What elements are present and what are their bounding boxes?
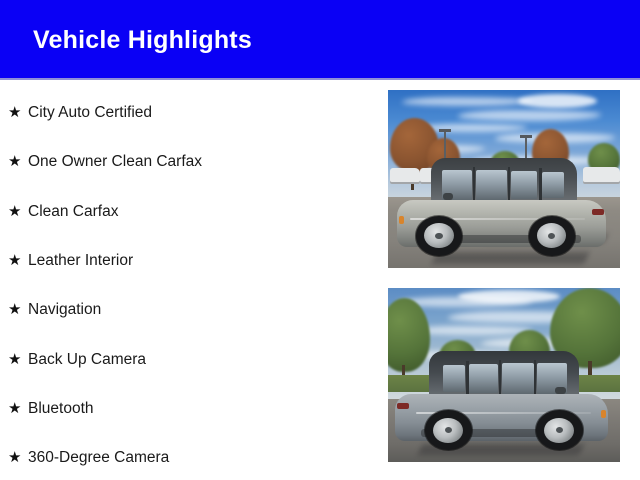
list-item: ★ Leather Interior (0, 236, 380, 285)
header-divider (0, 78, 640, 80)
vehicle (395, 351, 608, 441)
list-item: ★ Back Up Camera (0, 334, 380, 383)
front-wheel (416, 216, 462, 255)
star-icon: ★ (8, 401, 28, 416)
vehicle-highlights-page: Vehicle Highlights ★ City Auto Certified… (0, 0, 640, 480)
highlight-label: Navigation (28, 300, 101, 319)
pillar (466, 361, 469, 397)
pillar (508, 167, 510, 204)
taillight (592, 209, 604, 215)
vehicle (397, 158, 606, 247)
taillight (397, 403, 409, 409)
highlight-label: Back Up Camera (28, 350, 146, 369)
wheel-hub (556, 427, 563, 433)
rear-wheel (425, 410, 472, 450)
photo-scene (388, 288, 620, 462)
window-glass (443, 365, 465, 391)
highlights-list: ★ City Auto Certified ★ One Owner Clean … (0, 88, 380, 480)
window-glass (511, 171, 537, 199)
star-icon: ★ (8, 352, 28, 367)
marker-light (399, 216, 404, 224)
star-icon: ★ (8, 105, 28, 120)
wheel-rim (433, 418, 463, 443)
list-item: ★ Navigation (0, 285, 380, 334)
photo-scene (388, 90, 620, 268)
window-glass (502, 363, 533, 393)
lamp-head (439, 129, 451, 132)
window-glass (542, 172, 564, 198)
star-icon: ★ (8, 302, 28, 317)
vehicle-photo-passenger-side[interactable] (388, 288, 620, 462)
highlight-label: Leather Interior (28, 251, 133, 270)
wheel-hub (445, 427, 452, 433)
wheel-hub (435, 233, 442, 239)
shadow (432, 252, 590, 264)
pillar (539, 168, 542, 204)
highlight-label: City Auto Certified (28, 103, 152, 122)
pillar (534, 360, 536, 398)
highlight-label: Bluetooth (28, 399, 94, 418)
wheel-rim (537, 223, 566, 248)
lamp-head (520, 135, 532, 138)
side-mirror (555, 387, 566, 394)
rear-wheel (529, 216, 575, 255)
window-glass (476, 170, 507, 200)
side-mirror (443, 193, 453, 200)
highlight-label: 360-Degree Camera (28, 448, 169, 467)
highlight-label: Clean Carfax (28, 202, 118, 221)
star-icon: ★ (8, 204, 28, 219)
wheel-hub (548, 233, 555, 239)
page-title: Vehicle Highlights (33, 25, 252, 55)
cloud (458, 110, 602, 121)
pillar (473, 167, 475, 204)
list-item: ★ One Owner Clean Carfax (0, 137, 380, 186)
front-wheel (536, 410, 583, 450)
wheel-rim (424, 223, 453, 248)
header-banner: Vehicle Highlights (0, 0, 640, 78)
window-glass (469, 364, 497, 392)
star-icon: ★ (8, 253, 28, 268)
wheel-rim (544, 418, 574, 443)
list-item: ★ City Auto Certified (0, 88, 380, 137)
star-icon: ★ (8, 450, 28, 465)
cloud (518, 94, 597, 108)
list-item: ★ Clean Carfax (0, 187, 380, 236)
highlight-label: One Owner Clean Carfax (28, 152, 202, 171)
list-item: ★ 360-Degree Camera (0, 433, 380, 480)
marker-light (601, 410, 606, 418)
vehicle-photo-driver-side[interactable] (388, 90, 620, 268)
list-item: ★ Bluetooth (0, 384, 380, 433)
pillar (499, 360, 501, 398)
star-icon: ★ (8, 154, 28, 169)
cloud (458, 290, 560, 303)
